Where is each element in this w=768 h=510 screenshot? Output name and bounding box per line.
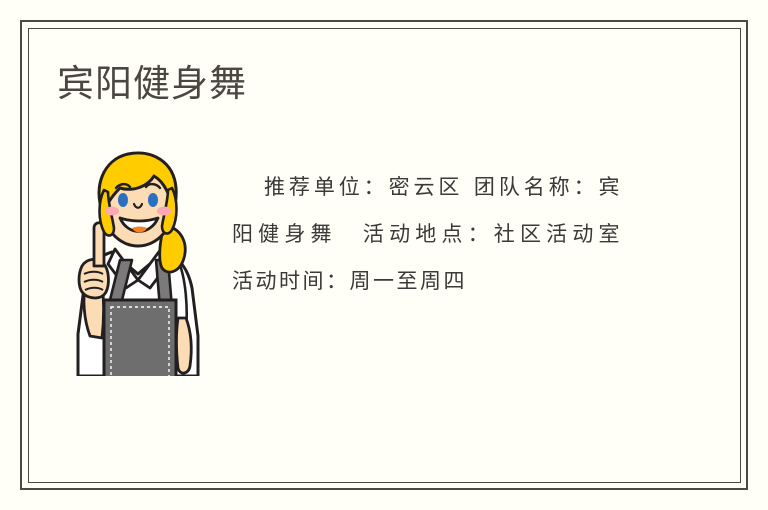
card-container: 宾阳健身舞 [0,0,768,510]
illustration-smiling-woman-pointing-up [68,148,208,376]
activity-description: 推荐单位：密云区 团队名称：宾阳健身舞 活动地点：社区活动室 活动时间：周一至周… [232,164,622,305]
content-row: 推荐单位：密云区 团队名称：宾阳健身舞 活动地点：社区活动室 活动时间：周一至周… [60,148,680,378]
page-title: 宾阳健身舞 [57,62,247,106]
